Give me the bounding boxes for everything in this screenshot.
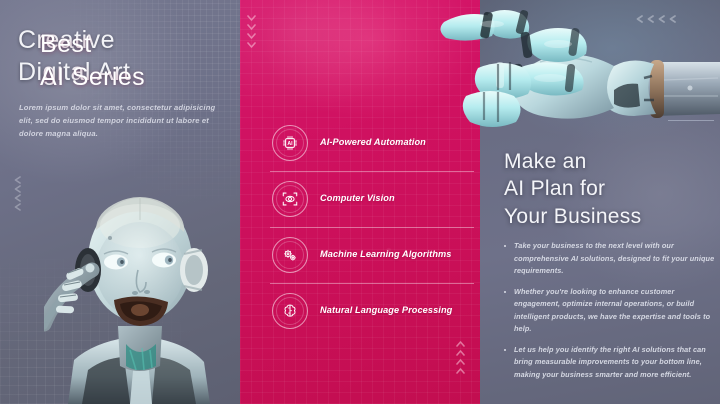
- bullet-text: Take your business to the next level wit…: [514, 241, 714, 275]
- center-title-line-2: AI Series: [40, 61, 145, 94]
- feature-item-natural-language-processing[interactable]: Natural Language Processing: [272, 283, 472, 339]
- right-title-line-2: AI Plan for: [504, 175, 719, 202]
- bullet-text: Whether you're looking to enhance custom…: [514, 287, 710, 334]
- machine-learning-gear-icon: [272, 237, 308, 273]
- center-panel-title: Best AI Series: [40, 28, 145, 94]
- right-title-line-3: Your Business: [504, 203, 719, 230]
- feature-item-machine-learning-algorithms[interactable]: Machine Learning Algorithms: [272, 227, 472, 283]
- feature-label: Computer Vision: [320, 192, 395, 206]
- feature-item-computer-vision[interactable]: Computer Vision: [272, 171, 472, 227]
- right-panel-title: Make an AI Plan for Your Business: [504, 148, 719, 230]
- bullet-item: Whether you're looking to enhance custom…: [503, 286, 715, 336]
- hud-lines-decoration: [624, 96, 714, 130]
- bullet-dot-icon: [504, 349, 506, 351]
- presentation-slide: Creative Digital Art Lorem ipsum dolor s…: [0, 0, 720, 404]
- bullet-text: Let us help you identify the right AI so…: [514, 345, 706, 379]
- bullet-item: Take your business to the next level wit…: [503, 240, 715, 278]
- feature-list: AI AI-Powered Automation Computer Vision: [272, 115, 472, 339]
- feature-label: Machine Learning Algorithms: [320, 248, 452, 262]
- feature-label: AI-Powered Automation: [320, 136, 426, 150]
- right-panel-bullet-list: Take your business to the next level wit…: [503, 240, 715, 389]
- bullet-dot-icon: [504, 291, 506, 293]
- circuit-mesh-decoration-lower: [0, 224, 240, 404]
- natural-language-brain-icon: [272, 293, 308, 329]
- ai-chip-icon: AI: [272, 125, 308, 161]
- computer-vision-icon: [272, 181, 308, 217]
- feature-label: Natural Language Processing: [320, 304, 452, 318]
- svg-text:AI: AI: [287, 141, 293, 147]
- glow-decoration: [260, 0, 480, 120]
- right-title-line-1: Make an: [504, 148, 719, 175]
- bullet-dot-icon: [504, 245, 506, 247]
- left-panel-body-text: Lorem ipsum dolor sit amet, consectetur …: [19, 101, 219, 140]
- center-title-line-1: Best: [40, 28, 145, 61]
- feature-item-ai-powered-automation[interactable]: AI AI-Powered Automation: [272, 115, 472, 171]
- bullet-item: Let us help you identify the right AI so…: [503, 344, 715, 382]
